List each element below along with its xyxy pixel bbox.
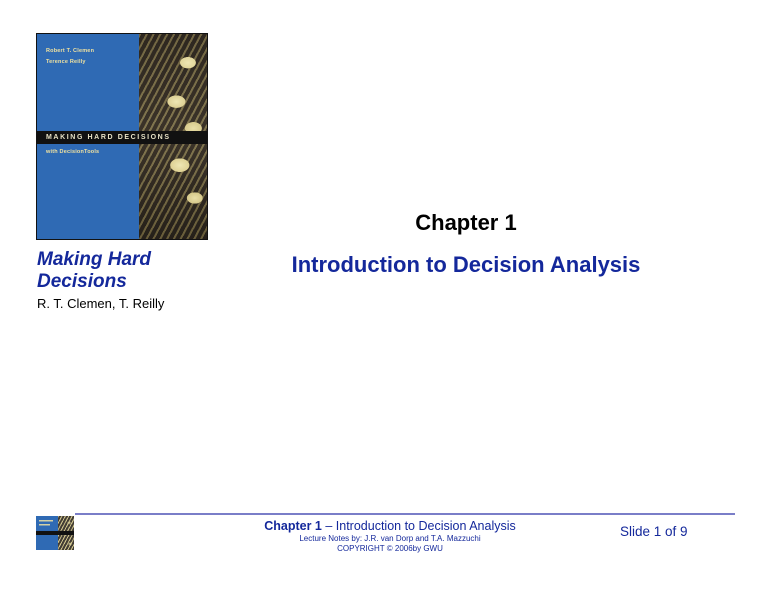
thumb-title-band (36, 531, 74, 535)
page-subtitle: Introduction to Decision Analysis (236, 251, 696, 279)
thumb-author-lines (39, 520, 57, 526)
cover-authors-text: Robert T. Clemen Terence Reilly (46, 46, 94, 68)
footer-chapter-label: Chapter 1 (264, 519, 322, 533)
book-caption: Making Hard Decisions R. T. Clemen, T. R… (37, 249, 237, 312)
footer-chapter-line: Chapter 1 – Introduction to Decision Ana… (190, 519, 590, 534)
cover-band-title: MAKING HARD DECISIONS (37, 134, 171, 141)
footer-book-thumbnail-icon (36, 516, 74, 550)
slide-counter: Slide 1 of 9 (620, 524, 688, 539)
footer-divider (75, 513, 735, 515)
cover-title-band: MAKING HARD DECISIONS (37, 131, 207, 144)
footer-chapter-title: – Introduction to Decision Analysis (322, 519, 516, 533)
footer-text-block: Chapter 1 – Introduction to Decision Ana… (190, 519, 590, 554)
footer-lecture-notes: Lecture Notes by: J.R. van Dorp and T.A.… (190, 534, 590, 544)
page-title: Chapter 1 (236, 210, 696, 236)
book-title: Making Hard Decisions (37, 249, 237, 293)
footer-copyright: COPYRIGHT © 2006by GWU (190, 544, 590, 554)
cover-subtitle-text: with DecisionTools (46, 149, 99, 155)
book-authors: R. T. Clemen, T. Reilly (37, 296, 237, 312)
book-cover-image: Robert T. Clemen Terence Reilly MAKING H… (36, 33, 208, 240)
